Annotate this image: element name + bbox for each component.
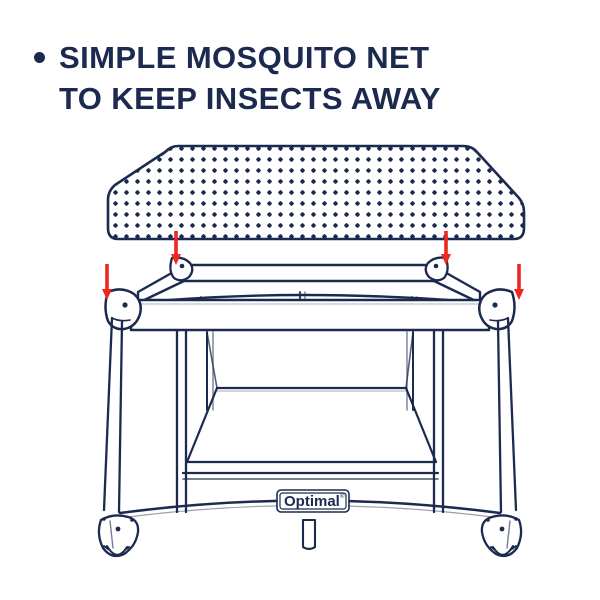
mosquito-net-panel (100, 140, 540, 250)
corner-hub-rear-left (170, 258, 192, 281)
product-illustration: Optimal ® (0, 0, 600, 600)
brand-trademark-mark: ® (340, 493, 345, 500)
brand-logo-badge: Optimal ® (277, 490, 349, 512)
interior-floor-panel (187, 332, 436, 462)
centre-support-tab (303, 520, 315, 549)
caster-wheel-right (482, 515, 521, 556)
lower-cross-rail (183, 473, 438, 479)
rear-inner-legs (207, 332, 413, 410)
product-feature-slide: SIMPLE MOSQUITO NET TO KEEP INSECTS AWAY (0, 0, 600, 600)
arrow-outer-right (514, 264, 524, 300)
caster-wheel-left (99, 515, 138, 556)
brand-logo-text: Optimal (284, 493, 340, 510)
outer-legs (104, 318, 516, 512)
inner-legs (177, 330, 443, 512)
front-top-rail (131, 300, 489, 330)
